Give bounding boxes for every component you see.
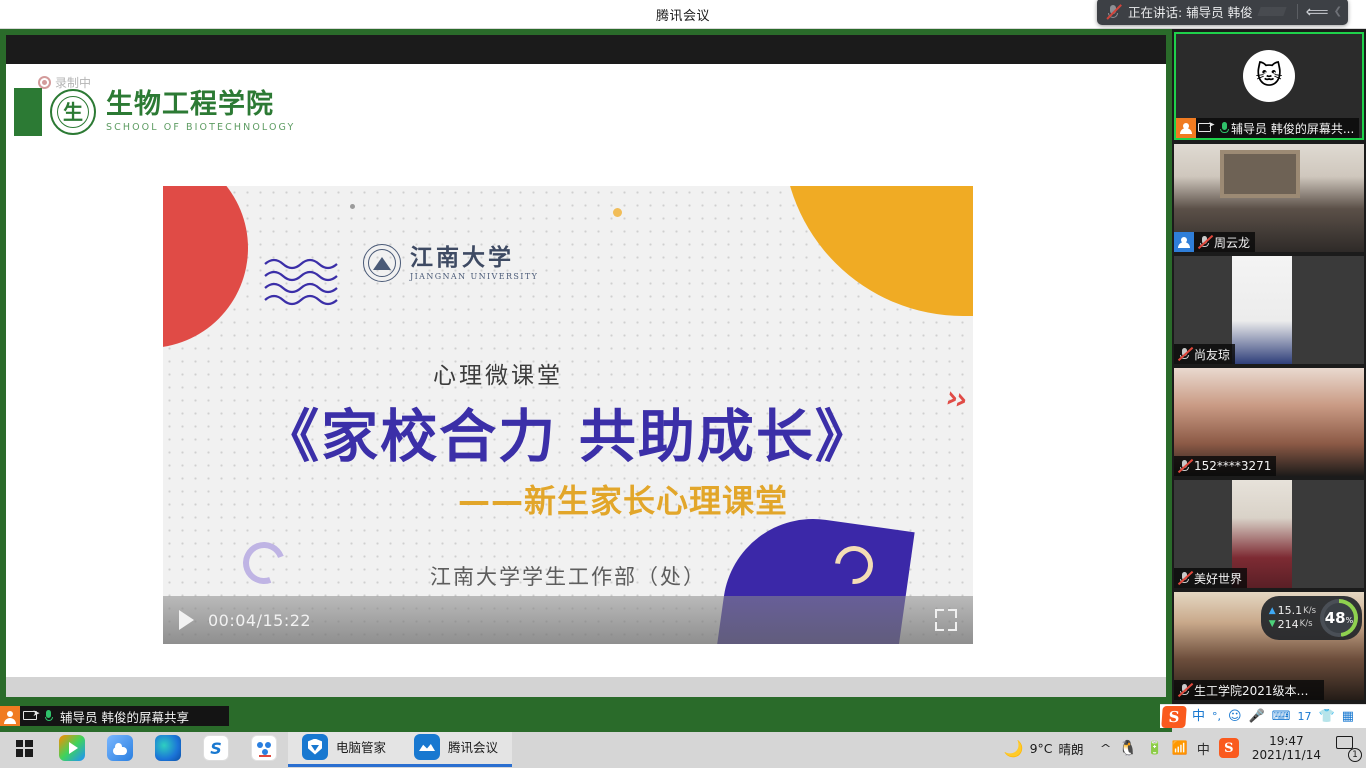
windows-taskbar[interactable]: S 电脑管家 腾讯会议 🌙 9°C 晴朗 ^ 🐧 🔋 📶 中 S 19:47 2… <box>0 728 1366 768</box>
participant-tile[interactable]: 尚友琼 <box>1174 256 1364 364</box>
upload-unit: K/s <box>1303 607 1316 616</box>
upload-arrow-icon: ▲ <box>1269 607 1276 617</box>
user-avatar-icon <box>0 706 20 726</box>
download-unit: K/s <box>1300 620 1313 629</box>
participant-video-sidebar[interactable]: 🐱 ➤ 辅导员 韩俊的屏幕共... 周云龙 尚友琼 152****3271 <box>1172 29 1366 704</box>
university-seal-icon <box>363 244 401 282</box>
decor-dot-orange <box>613 208 622 217</box>
battery-icon[interactable]: 🔋 <box>1146 741 1162 756</box>
participant-tile[interactable]: 152****3271 <box>1174 368 1364 476</box>
participant-name-bar: 周云龙 <box>1174 232 1255 252</box>
mic-off-icon <box>1177 458 1194 474</box>
participant-name: 周云龙 <box>1214 234 1250 251</box>
voice-input-icon[interactable]: 🎤 <box>1249 710 1265 723</box>
chevron-up-icon[interactable]: ^ <box>1099 742 1111 755</box>
decor-waves-icon <box>263 256 363 311</box>
speaking-status-text: 正在讲话: 辅导员 韩俊 <box>1128 2 1253 21</box>
school-seal-icon: 生 <box>50 89 96 135</box>
mic-off-icon <box>1177 570 1194 586</box>
weather-widget[interactable]: 🌙 9°C 晴朗 <box>1004 739 1084 758</box>
sharing-status-label: 辅导员 韩俊的屏幕共享 <box>60 707 189 726</box>
slide-title: 《家校合力 共助成长》 <box>163 391 973 473</box>
cat-avatar-icon: 🐱 <box>1255 63 1282 89</box>
participant-name-bar: ➤ 辅导员 韩俊的屏幕共... <box>1176 118 1359 138</box>
play-icon[interactable] <box>179 610 194 630</box>
slide-subtitle: 心理微课堂 <box>163 356 973 390</box>
download-rate-row: ▼ 214 K/s <box>1269 619 1316 631</box>
chevron-left-icon[interactable]: ❮ <box>1334 6 1342 17</box>
double-chevron-icon[interactable] <box>1259 4 1289 20</box>
record-dot-icon <box>38 76 51 89</box>
decor-red-circle <box>163 186 248 348</box>
shield-icon <box>302 734 328 760</box>
upload-rate-row: ▲ 15.1 K/s <box>1269 605 1316 617</box>
emoji-icon[interactable]: ☺ <box>1228 710 1242 723</box>
weather-condition: 晴朗 <box>1059 739 1084 758</box>
window-title: 腾讯会议 <box>656 5 710 24</box>
mic-on-icon <box>1218 120 1231 136</box>
school-name-cn: 生物工程学院 <box>106 91 295 119</box>
skin-icon[interactable]: 👕 <box>1319 710 1335 723</box>
screen-share-icon: ➤ <box>1198 121 1215 135</box>
university-name-cn: 江南大学 <box>410 246 538 269</box>
slide-department: 江南大学学生工作部（处） <box>163 561 973 591</box>
university-name-en: JIANGNAN UNIVERSITY <box>410 272 538 281</box>
usage-percent-symbol: % <box>1346 616 1354 625</box>
shared-screen-area: 生 生物工程学院 SCHOOL OF BIOTECHNOLOGY 录制中 <box>0 29 1172 732</box>
sharing-status-strip[interactable]: ➤ 辅导员 韩俊的屏幕共享 <box>0 706 229 726</box>
participant-name: 生工学院2021级本科生家长会 <box>1194 682 1319 699</box>
avatar: 🐱 <box>1243 50 1295 102</box>
participant-name-bar: 152****3271 <box>1174 456 1276 476</box>
mic-muted-icon[interactable] <box>1105 3 1121 21</box>
decor-yellow-shape <box>783 186 973 316</box>
download-arrow-icon: ▼ <box>1269 620 1276 630</box>
participant-name-bar: 尚友琼 <box>1174 344 1235 364</box>
sogou-browser-icon[interactable]: S <box>192 728 240 768</box>
participant-name: 尚友琼 <box>1194 346 1230 363</box>
presentation-slide: ›› 江南大学 JIANGNAN UNIVERSITY 心理微课堂 《家校合力 … <box>163 186 973 644</box>
user-profile-icon[interactable]: 17 <box>1298 711 1312 722</box>
wifi-icon[interactable]: 📶 <box>1172 741 1188 756</box>
participant-name: 152****3271 <box>1194 459 1271 473</box>
user-avatar-icon <box>1174 232 1194 252</box>
toolbar-divider <box>1297 4 1298 19</box>
chinese-mode-icon[interactable]: 中 <box>1192 710 1205 723</box>
taskbar-app-pc-manager[interactable]: 电脑管家 <box>288 729 400 767</box>
sogou-ime-logo-icon[interactable]: S <box>1161 706 1187 728</box>
slide-subtitle-2: ——新生家长心理课堂 <box>458 482 788 520</box>
usage-ring-gauge: 48 % <box>1320 599 1358 637</box>
participant-name: 美好世界 <box>1194 570 1242 587</box>
university-logo: 江南大学 JIANGNAN UNIVERSITY <box>363 244 538 282</box>
onedrive-cloud-icon[interactable] <box>96 728 144 768</box>
participant-tile[interactable]: ▲ 15.1 K/s ▼ 214 K/s 48 % 生工学院2021级本科生家长… <box>1174 592 1364 700</box>
school-seal-glyph: 生 <box>63 102 83 122</box>
participant-name: 辅导员 韩俊的屏幕共... <box>1231 120 1354 137</box>
return-arrow-icon[interactable]: ⟸ <box>1306 4 1329 20</box>
windows-start-icon[interactable] <box>0 728 48 768</box>
mic-off-icon <box>1177 682 1194 698</box>
participant-name-bar: 美好世界 <box>1174 568 1247 588</box>
clock-time: 19:47 <box>1252 734 1321 748</box>
upload-rate: 15.1 <box>1278 605 1303 617</box>
mountain-icon <box>414 734 440 760</box>
sogou-ime-icon[interactable]: S <box>1219 738 1239 758</box>
qq-player-icon[interactable] <box>48 728 96 768</box>
recording-badge: 录制中 <box>38 74 91 91</box>
system-tray[interactable]: 🌙 9°C 晴朗 ^ 🐧 🔋 📶 中 S 19:47 2021/11/14 1 <box>1004 728 1366 768</box>
logo-green-block <box>14 88 42 136</box>
clock-date: 2021/11/14 <box>1252 748 1321 762</box>
decor-dot-grey <box>350 204 355 209</box>
soft-keyboard-icon[interactable]: ⌨ <box>1272 710 1291 723</box>
action-center-icon[interactable]: 1 <box>1336 736 1360 760</box>
taskbar-app-label: 电脑管家 <box>336 737 386 756</box>
microsoft-edge-icon[interactable] <box>144 728 192 768</box>
desktop-strip <box>6 677 1166 697</box>
participant-tile[interactable]: 美好世界 <box>1174 480 1364 588</box>
mic-off-icon <box>1197 234 1214 250</box>
mic-on-icon <box>43 709 55 724</box>
download-rate: 214 <box>1278 619 1299 631</box>
school-name-en: SCHOOL OF BIOTECHNOLOGY <box>106 122 295 133</box>
chinese-ime-icon[interactable]: 中 <box>1197 739 1210 758</box>
screen-share-icon: ➤ <box>23 710 39 723</box>
shared-desktop-canvas: 生 生物工程学院 SCHOOL OF BIOTECHNOLOGY 录制中 <box>6 64 1166 677</box>
participant-name-bar: 生工学院2021级本科生家长会 <box>1174 680 1324 700</box>
weather-temperature: 9°C <box>1030 741 1053 756</box>
toolbox-icon[interactable]: ▦ <box>1342 710 1354 723</box>
notification-count: 1 <box>1348 748 1362 762</box>
participant-tile[interactable]: 周云龙 <box>1174 144 1364 252</box>
school-logo: 生 生物工程学院 SCHOOL OF BIOTECHNOLOGY <box>14 88 295 136</box>
video-player-bar[interactable]: 00:04/15:22 <box>163 596 973 644</box>
taskbar-app-label: 腾讯会议 <box>448 737 498 756</box>
baidu-netdisk-icon[interactable] <box>240 728 288 768</box>
speaking-toolbar[interactable]: 正在讲话: 辅导员 韩俊 ⟸ ❮ <box>1097 0 1348 25</box>
fullscreen-icon[interactable] <box>935 609 957 631</box>
user-avatar-icon <box>1176 118 1196 138</box>
taskbar-app-tencent-meeting[interactable]: 腾讯会议 <box>400 729 512 767</box>
taskbar-clock[interactable]: 19:47 2021/11/14 <box>1252 734 1321 762</box>
network-speed-widget[interactable]: ▲ 15.1 K/s ▼ 214 K/s 48 % <box>1261 596 1362 640</box>
qq-penguin-icon[interactable]: 🐧 <box>1119 739 1138 757</box>
recording-label: 录制中 <box>55 74 91 91</box>
mic-off-icon <box>1177 346 1194 362</box>
participant-tile[interactable]: 🐱 ➤ 辅导员 韩俊的屏幕共... <box>1174 32 1364 140</box>
punctuation-icon[interactable]: °, <box>1212 711 1221 722</box>
usage-percent: 48 <box>1325 609 1346 627</box>
moon-icon: 🌙 <box>1004 739 1024 758</box>
sogou-ime-toolbar[interactable]: S 中 °, ☺ 🎤 ⌨ 17 👕 ▦ <box>1160 704 1366 728</box>
video-timecode: 00:04/15:22 <box>208 611 311 630</box>
